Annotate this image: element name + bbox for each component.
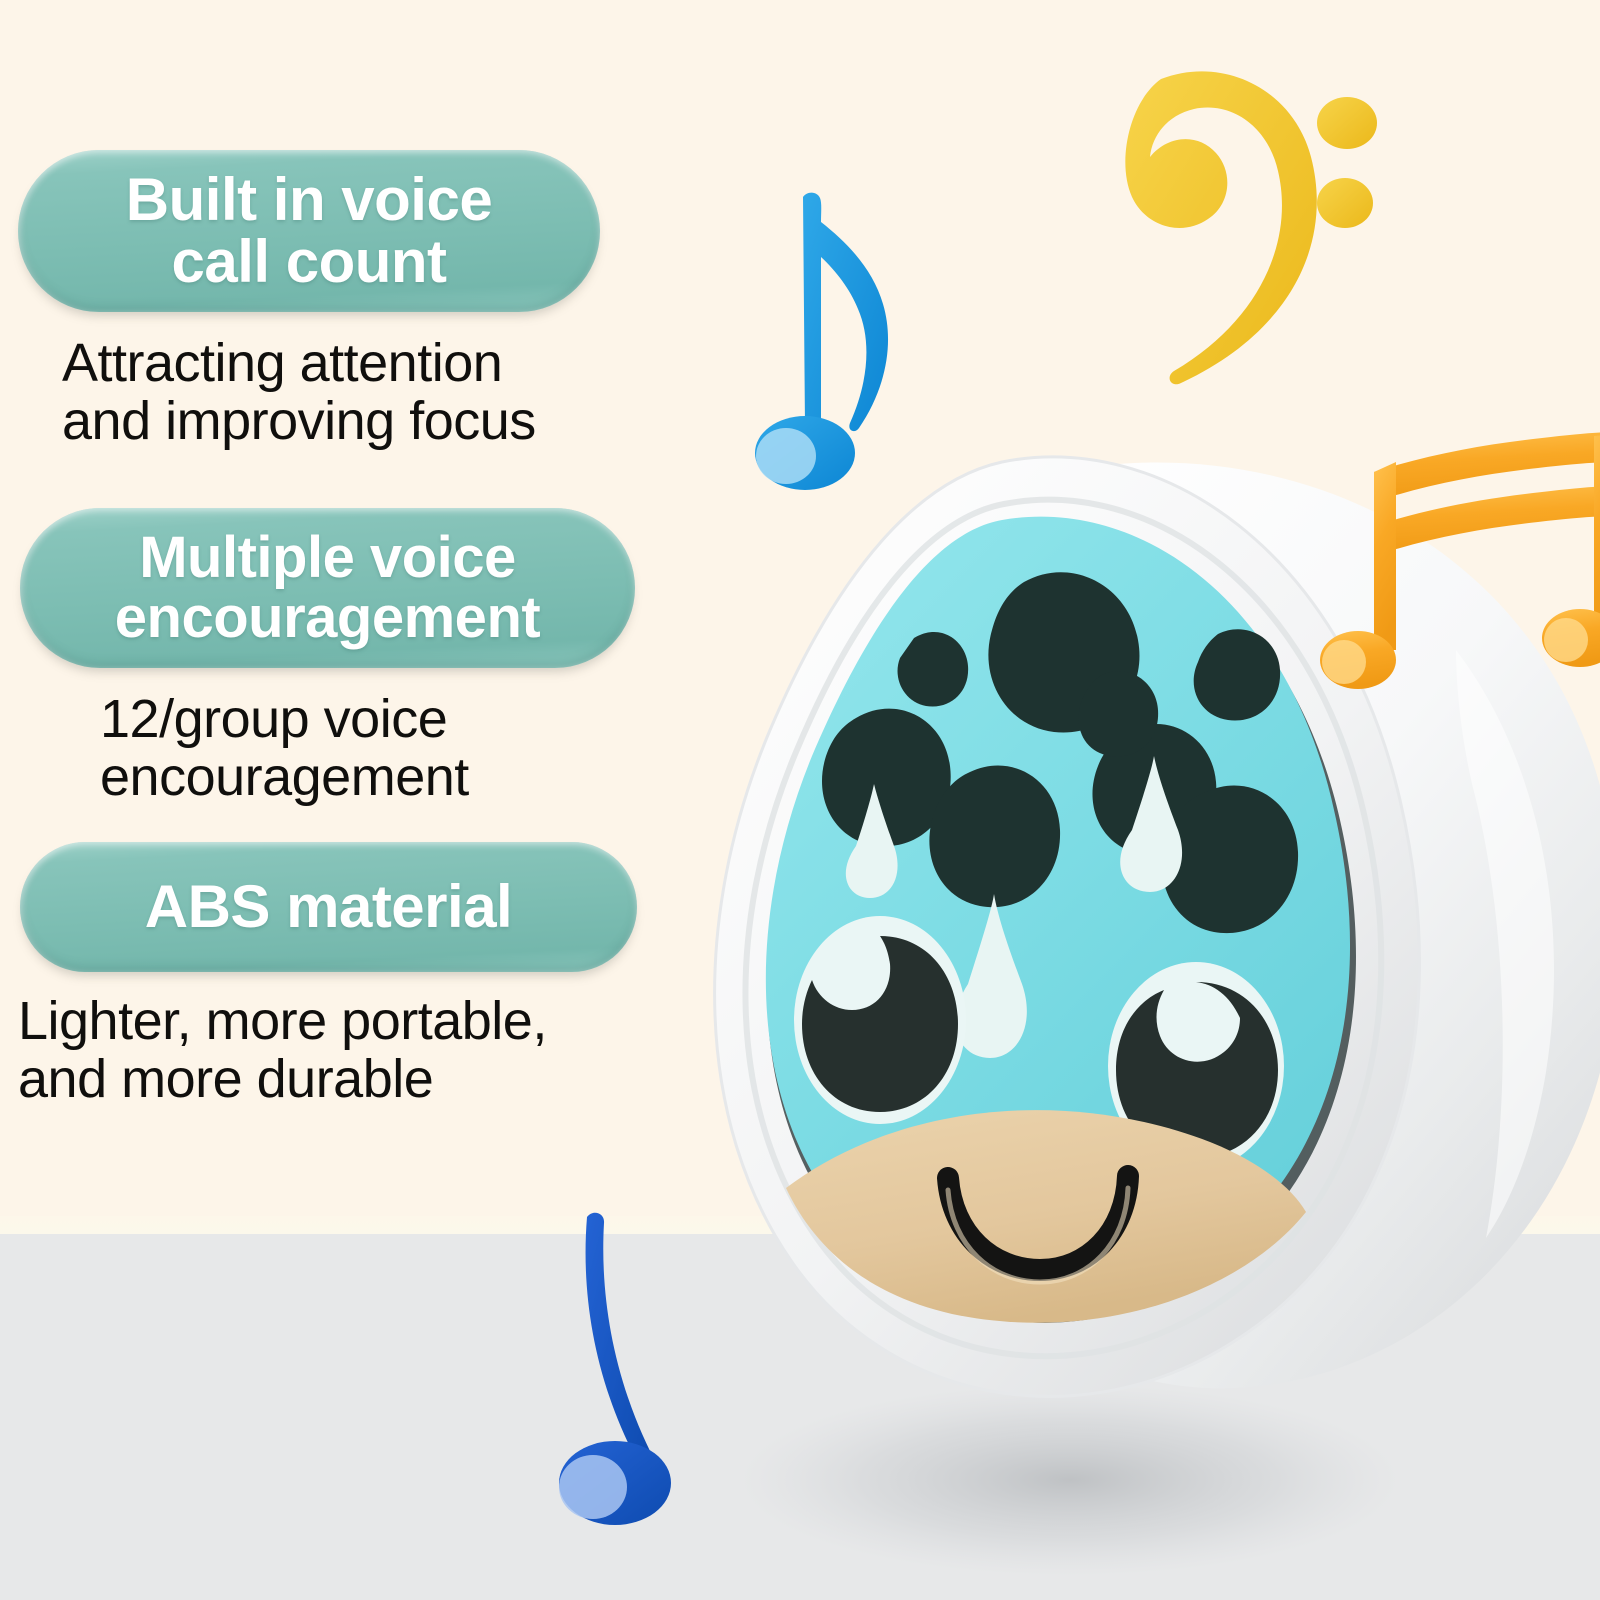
note-head-highlight xyxy=(559,1455,627,1519)
product-shadow xyxy=(740,1384,1400,1576)
feature-badge-label-2: Multiple voice encouragement xyxy=(89,528,566,647)
feature-badge-label-3: ABS material xyxy=(119,876,538,938)
feature-description-1: Attracting attention and improving focus xyxy=(62,334,690,451)
note-head-highlight xyxy=(756,428,816,484)
feature-badge-2: Multiple voice encouragement xyxy=(20,508,635,668)
quarter-note-blue-icon xyxy=(535,1195,735,1545)
feature-list: Built in voice call count Attracting att… xyxy=(0,0,690,1200)
note-stem-flag xyxy=(803,193,888,434)
infographic-canvas: Built in voice call count Attracting att… xyxy=(0,0,1600,1600)
bass-clef-dot-upper xyxy=(1317,97,1377,149)
note-stem xyxy=(586,1213,651,1462)
note-head-right-highlight xyxy=(1544,618,1588,662)
feature-badge-label-1: Built in voice call count xyxy=(100,169,518,293)
beamed-notes-orange-icon xyxy=(1330,430,1600,710)
eye-left xyxy=(794,916,966,1124)
feature-description-3: Lighter, more portable, and more durable xyxy=(18,992,690,1109)
note-stem-left xyxy=(1374,462,1396,650)
note-stem-right xyxy=(1594,434,1600,626)
feature-item-voice-encouragement: Multiple voice encouragement 12/group vo… xyxy=(0,508,690,807)
bass-clef-yellow-icon xyxy=(1085,45,1405,375)
feature-item-abs-material: ABS material Lighter, more portable, and… xyxy=(0,842,690,1109)
bass-clef-body xyxy=(1125,71,1316,384)
beam-lower xyxy=(1374,486,1600,556)
feature-badge-3: ABS material xyxy=(20,842,637,972)
note-head-left-highlight xyxy=(1322,640,1366,684)
eighth-note-blue-icon xyxy=(700,175,940,505)
feature-item-voice-call-count: Built in voice call count Attracting att… xyxy=(0,150,690,451)
feature-badge-1: Built in voice call count xyxy=(18,150,600,312)
bass-clef-dot-lower xyxy=(1317,178,1373,228)
